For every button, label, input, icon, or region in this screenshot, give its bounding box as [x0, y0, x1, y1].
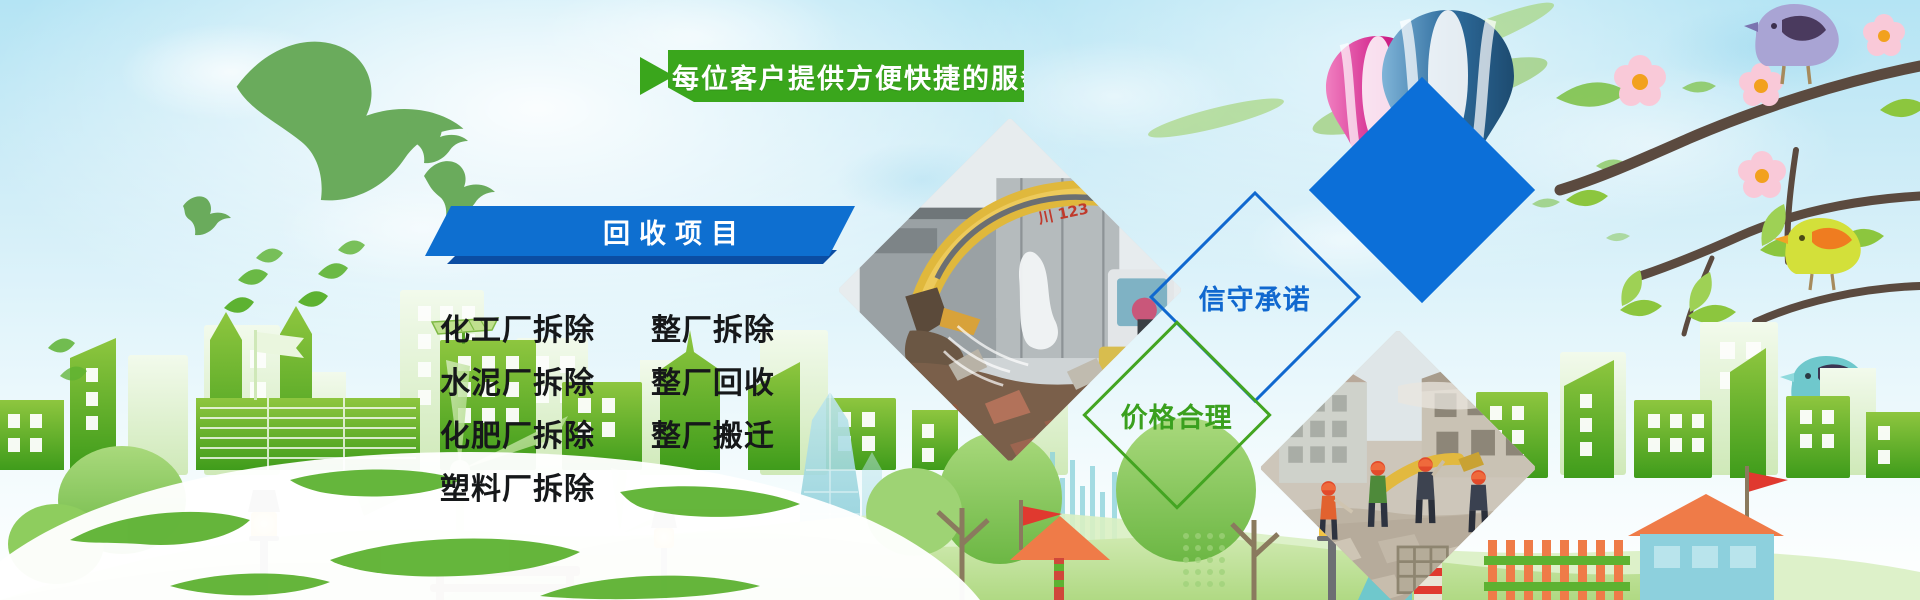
demolition-photo-workers: [1259, 329, 1536, 600]
section-banner: 回收项目: [425, 206, 855, 268]
flower-icon: [1614, 14, 1905, 198]
headline-text: 为每位客户提供方便快捷的服务: [643, 57, 1049, 96]
section-banner-text: 回收项目: [533, 212, 747, 251]
service-item: 化工厂拆除: [440, 305, 651, 349]
badge-price-label: 价格合理: [1121, 396, 1233, 435]
flag-icon: [254, 330, 304, 400]
headline-ribbon: 为每位客户提供方便快捷的服务: [668, 50, 1024, 102]
service-item: 化肥厂拆除: [440, 411, 651, 455]
tree-icon: [8, 418, 1788, 600]
service-item: 整厂回收: [651, 358, 840, 402]
banner-canvas: 川 123: [0, 0, 1920, 600]
perched-bird-icon: [1780, 356, 1867, 428]
service-row: 塑料厂拆除: [440, 459, 840, 512]
badge-promise-label: 信守承诺: [1199, 278, 1311, 317]
branch-with-birds: [1560, 4, 1920, 428]
halftone-dots: [1183, 533, 1225, 587]
perched-bird-icon: [1744, 4, 1839, 84]
service-item: 整厂搬迁: [651, 411, 840, 455]
service-item: 塑料厂拆除: [440, 464, 651, 508]
decorative-blue-diamond: [1309, 77, 1535, 303]
hill-shape: [0, 510, 1920, 600]
service-row: 水泥厂拆除 整厂回收: [440, 353, 840, 406]
service-row: 化工厂拆除 整厂拆除: [440, 300, 840, 353]
perched-bird-icon: [1774, 218, 1861, 290]
service-row: 化肥厂拆除 整厂搬迁: [440, 406, 840, 459]
service-item: 水泥厂拆除: [440, 358, 651, 402]
leaf-icon: [48, 241, 365, 381]
service-item: 整厂拆除: [651, 305, 840, 349]
service-list: 化工厂拆除 整厂拆除 水泥厂拆除 整厂回收 化肥厂拆除 整厂搬迁 塑料厂拆除: [440, 300, 840, 512]
section-banner-body: 回收项目: [425, 206, 855, 256]
